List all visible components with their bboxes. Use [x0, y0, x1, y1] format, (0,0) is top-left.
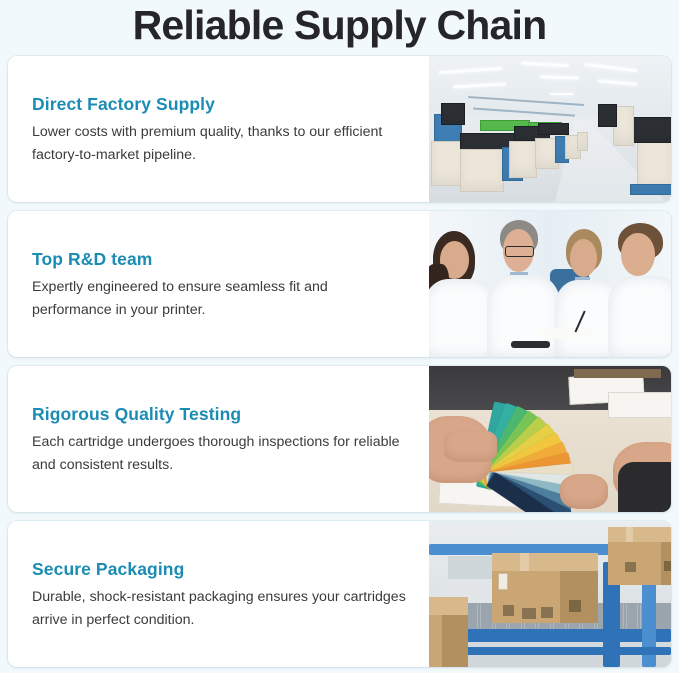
feature-card-top-rd-team[interactable]: Top R&D team Expertly engineered to ensu…: [8, 211, 671, 357]
card-description: Expertly engineered to ensure seamless f…: [32, 276, 409, 322]
card-body: Rigorous Quality Testing Each cartridge …: [8, 366, 429, 512]
packaging-conveyor-photo: [429, 521, 671, 667]
card-description: Each cartridge undergoes thorough inspec…: [32, 431, 409, 477]
factory-production-line-photo: [429, 56, 671, 202]
feature-card-rigorous-quality-testing[interactable]: Rigorous Quality Testing Each cartridge …: [8, 366, 671, 512]
card-body: Direct Factory Supply Lower costs with p…: [8, 56, 429, 202]
card-body: Top R&D team Expertly engineered to ensu…: [8, 211, 429, 357]
cardboard-box: [492, 553, 598, 623]
card-description: Lower costs with premium quality, thanks…: [32, 121, 409, 167]
card-description: Durable, shock-resistant packaging ensur…: [32, 586, 409, 632]
card-heading: Secure Packaging: [32, 559, 409, 581]
card-heading: Direct Factory Supply: [32, 94, 409, 116]
cardboard-box: [608, 527, 671, 585]
page-title: Reliable Supply Chain: [0, 0, 679, 56]
card-heading: Rigorous Quality Testing: [32, 404, 409, 426]
feature-card-secure-packaging[interactable]: Secure Packaging Durable, shock-resistan…: [8, 521, 671, 667]
cardboard-box: [429, 597, 468, 667]
card-heading: Top R&D team: [32, 249, 409, 271]
reliable-supply-chain-page: Reliable Supply Chain Direct Factory Sup…: [0, 0, 679, 673]
color-swatch-testing-photo: [429, 366, 671, 512]
card-body: Secure Packaging Durable, shock-resistan…: [8, 521, 429, 667]
rd-team-lab-photo: [429, 211, 671, 357]
feature-card-list: Direct Factory Supply Lower costs with p…: [0, 56, 679, 667]
feature-card-direct-factory-supply[interactable]: Direct Factory Supply Lower costs with p…: [8, 56, 671, 202]
